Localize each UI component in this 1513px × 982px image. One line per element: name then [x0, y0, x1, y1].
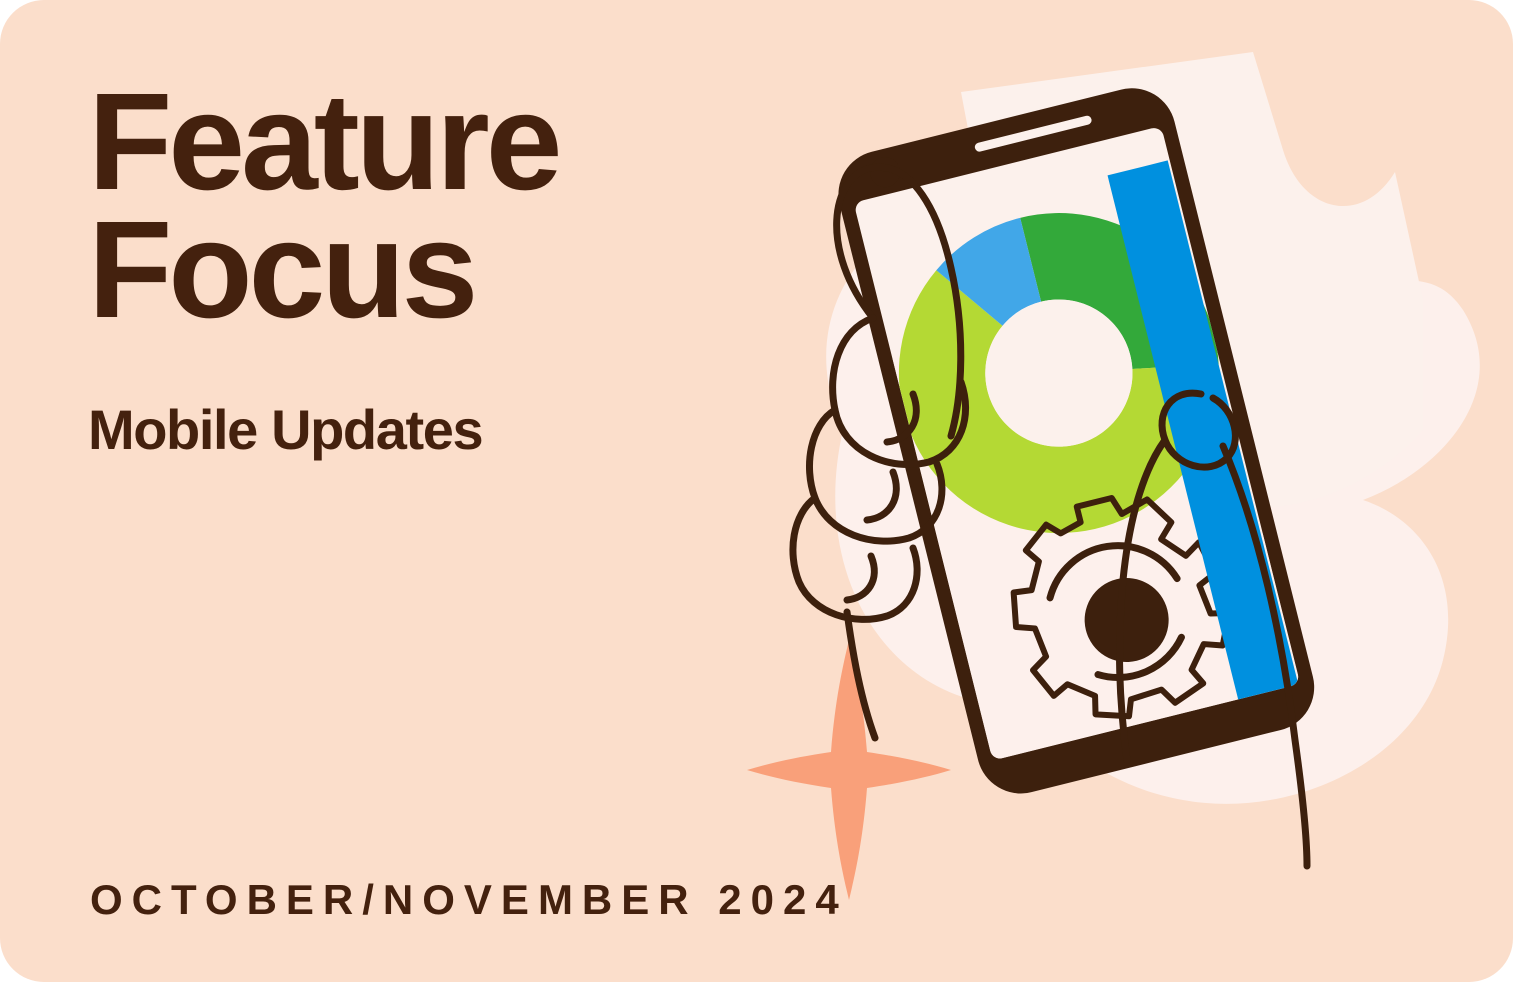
newsletter-card: Feature Focus Mobile Updates OCTOBER/NOV… — [0, 0, 1513, 982]
page-title-line-2: Focus — [88, 206, 728, 334]
page-title-line-1: Feature — [88, 78, 728, 206]
issue-date: OCTOBER/NOVEMBER 2024 — [90, 876, 848, 924]
sparkle-star-icon — [747, 640, 951, 900]
illustration-artwork — [723, 0, 1513, 982]
header-text-block: Feature Focus Mobile Updates — [88, 78, 728, 462]
page-subtitle: Mobile Updates — [88, 397, 728, 462]
